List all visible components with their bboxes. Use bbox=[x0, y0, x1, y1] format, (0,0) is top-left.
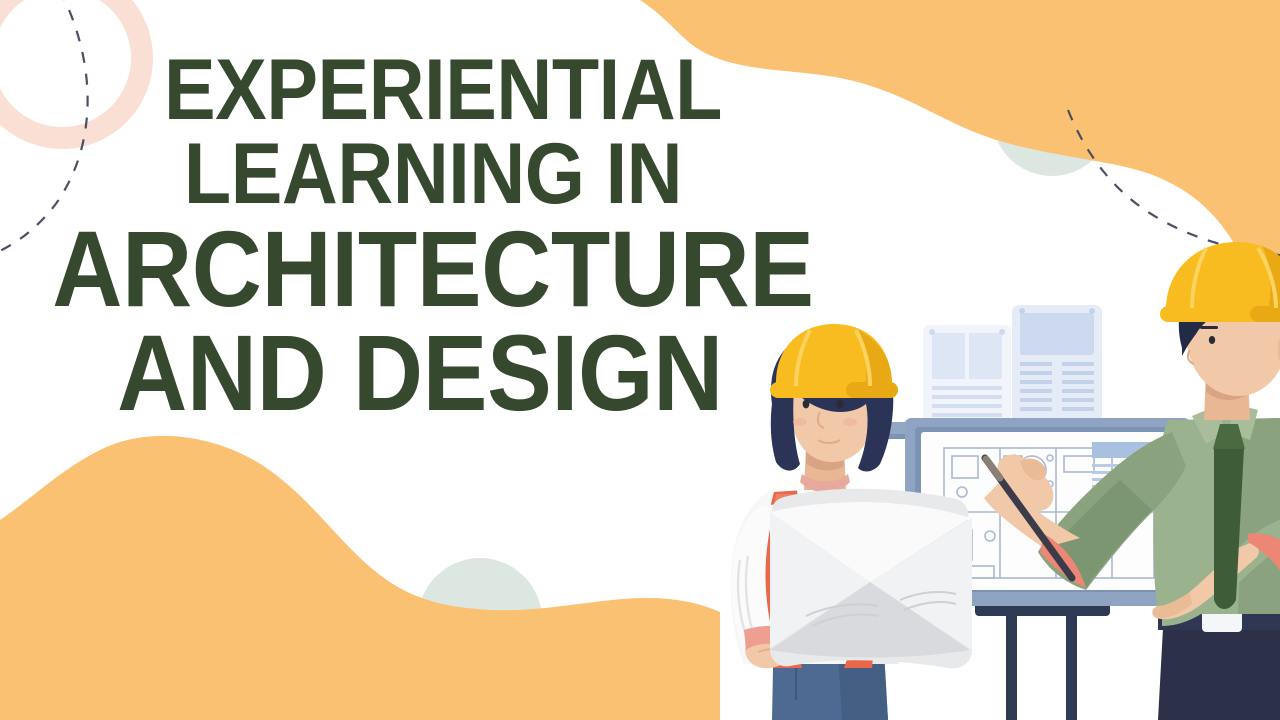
title-line-1: EXPERIENTIAL bbox=[50, 48, 837, 132]
page-title: EXPERIENTIAL LEARNING IN ARCHITECTURE AN… bbox=[0, 48, 880, 426]
title-line-2: LEARNING IN bbox=[31, 132, 836, 216]
title-line-3: ARCHITECTURE bbox=[31, 217, 836, 322]
title-slide: EXPERIENTIAL LEARNING IN ARCHITECTURE AN… bbox=[0, 0, 1280, 720]
orange-wave-bottom-left bbox=[0, 436, 720, 720]
title-line-4: AND DESIGN bbox=[6, 321, 834, 426]
